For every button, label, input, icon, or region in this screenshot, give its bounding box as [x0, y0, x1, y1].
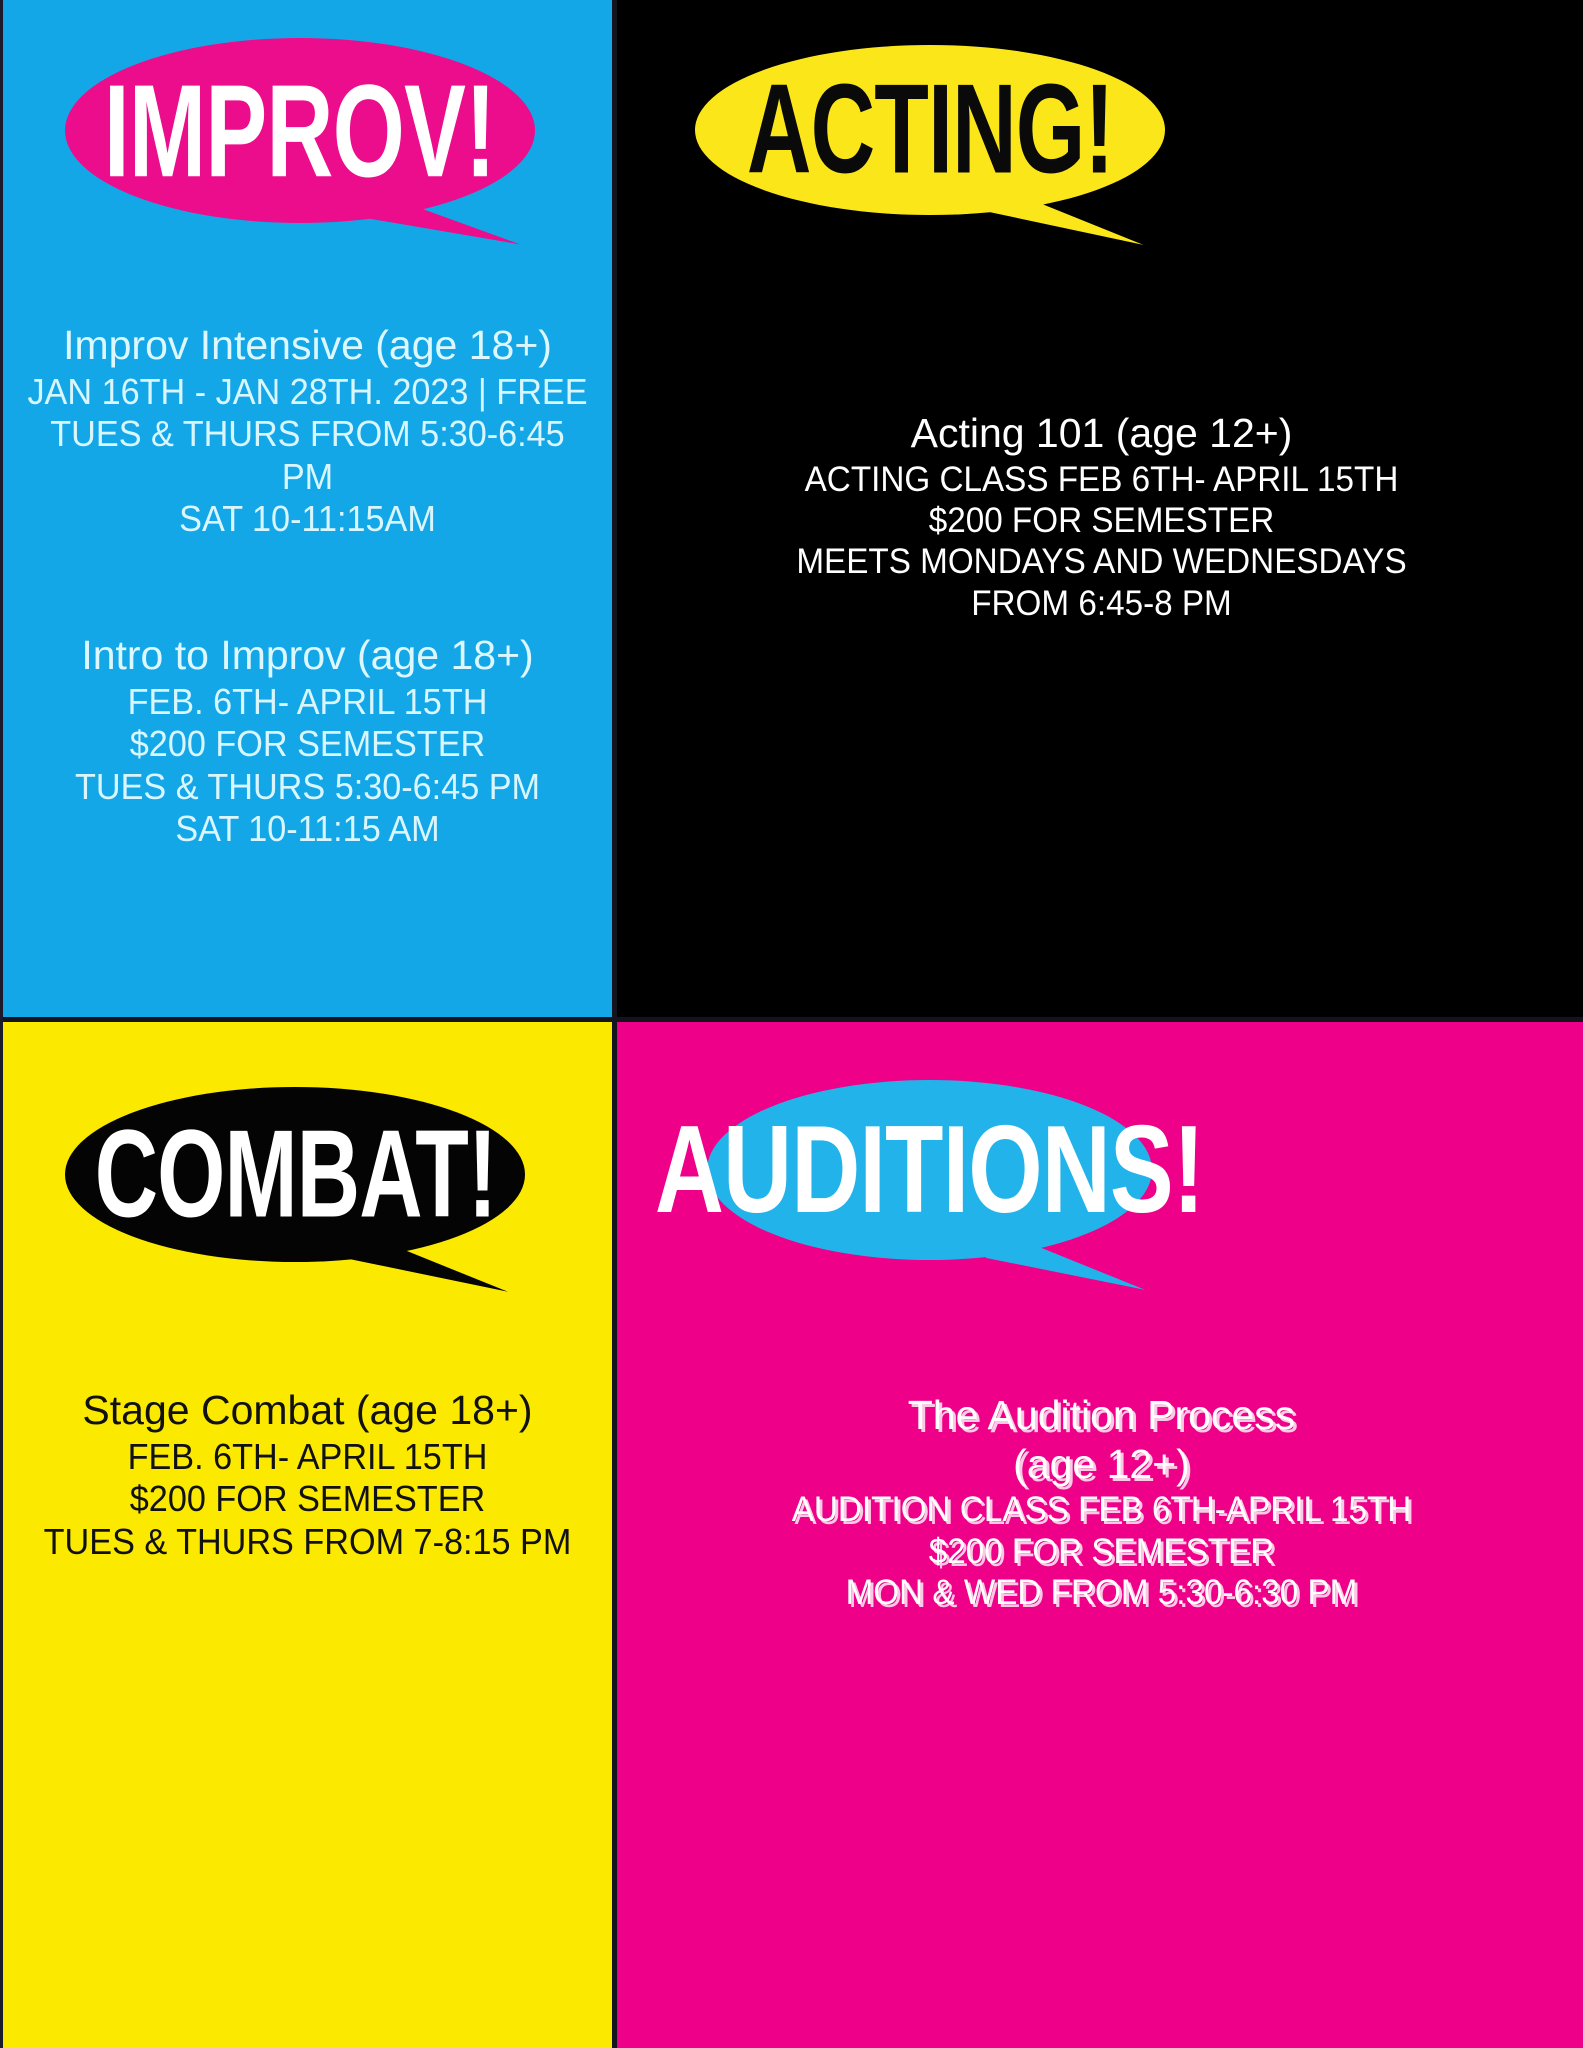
auditions-speech-bubble: AUDITIONS! [707, 1080, 1152, 1260]
acting-101-line-4: FROM 6:45-8 PM [649, 583, 1554, 624]
stage-combat-title: Stage Combat (age 18+) [11, 1387, 604, 1434]
combat-speech-bubble: COMBAT! [65, 1087, 525, 1262]
intro-to-improv-line-4: SAT 10-11:15 AM [26, 808, 589, 850]
acting-bubble-label: ACTING! [747, 57, 1114, 202]
audition-process-line-1: AUDITION CLASS FEB 6TH-APRIL 15TH [649, 1489, 1554, 1530]
improv-intensive-line-3: SAT 10-11:15AM [26, 498, 589, 540]
audition-process-info: The Audition Process (age 12+) AUDITION … [617, 1392, 1583, 1613]
acting-101-line-2: $200 FOR SEMESTER [649, 500, 1554, 541]
intro-to-improv-line-2: $200 FOR SEMESTER [26, 723, 589, 765]
improv-intensive-info: Improv Intensive (age 18+) JAN 16TH - JA… [3, 322, 612, 541]
intro-to-improv-title: Intro to Improv (age 18+) [11, 632, 604, 679]
quadrant-combat: COMBAT! Stage Combat (age 18+) FEB. 6TH-… [3, 1022, 612, 2048]
improv-intensive-line-2: TUES & THURS FROM 5:30-6:45 PM [26, 413, 589, 498]
class-schedule-poster: IMPROV! Improv Intensive (age 18+) JAN 1… [0, 0, 1583, 2048]
improv-intensive-title: Improv Intensive (age 18+) [11, 322, 604, 369]
audition-process-title-line-1: The Audition Process [625, 1392, 1578, 1439]
audition-process-line-2: $200 FOR SEMESTER [649, 1531, 1554, 1572]
acting-101-line-1: ACTING CLASS FEB 6TH- APRIL 15TH [649, 459, 1554, 500]
acting-101-info: Acting 101 (age 12+) ACTING CLASS FEB 6T… [617, 410, 1583, 624]
intro-to-improv-line-3: TUES & THURS 5:30-6:45 PM [26, 766, 589, 808]
quadrant-acting: ACTING! Acting 101 (age 12+) ACTING CLAS… [612, 0, 1583, 1022]
stage-combat-line-1: FEB. 6TH- APRIL 15TH [26, 1436, 589, 1478]
improv-speech-bubble: IMPROV! [65, 38, 535, 223]
acting-101-line-3: MEETS MONDAYS AND WEDNESDAYS [649, 541, 1554, 582]
acting-101-title: Acting 101 (age 12+) [625, 410, 1578, 457]
stage-combat-line-2: $200 FOR SEMESTER [26, 1478, 589, 1520]
stage-combat-info: Stage Combat (age 18+) FEB. 6TH- APRIL 1… [3, 1387, 612, 1563]
audition-process-title-line-2: (age 12+) [625, 1441, 1578, 1488]
speech-bubble-tail-icon [986, 1230, 1146, 1318]
acting-speech-bubble: ACTING! [695, 45, 1165, 215]
improv-intensive-line-1: JAN 16TH - JAN 28TH. 2023 | FREE [26, 371, 589, 413]
improv-bubble-label: IMPROV! [104, 54, 495, 207]
quadrant-improv: IMPROV! Improv Intensive (age 18+) JAN 1… [3, 0, 612, 1022]
quadrant-auditions: AUDITIONS! The Audition Process (age 12+… [612, 1022, 1583, 2048]
audition-process-line-3: MON & WED FROM 5:30-6:30 PM [649, 1572, 1554, 1613]
auditions-bubble-label: AUDITIONS! [655, 1099, 1204, 1242]
combat-bubble-label: COMBAT! [94, 1103, 496, 1246]
intro-to-improv-info: Intro to Improv (age 18+) FEB. 6TH- APRI… [3, 632, 612, 851]
stage-combat-line-3: TUES & THURS FROM 7-8:15 PM [26, 1521, 589, 1563]
intro-to-improv-line-1: FEB. 6TH- APRIL 15TH [26, 681, 589, 723]
